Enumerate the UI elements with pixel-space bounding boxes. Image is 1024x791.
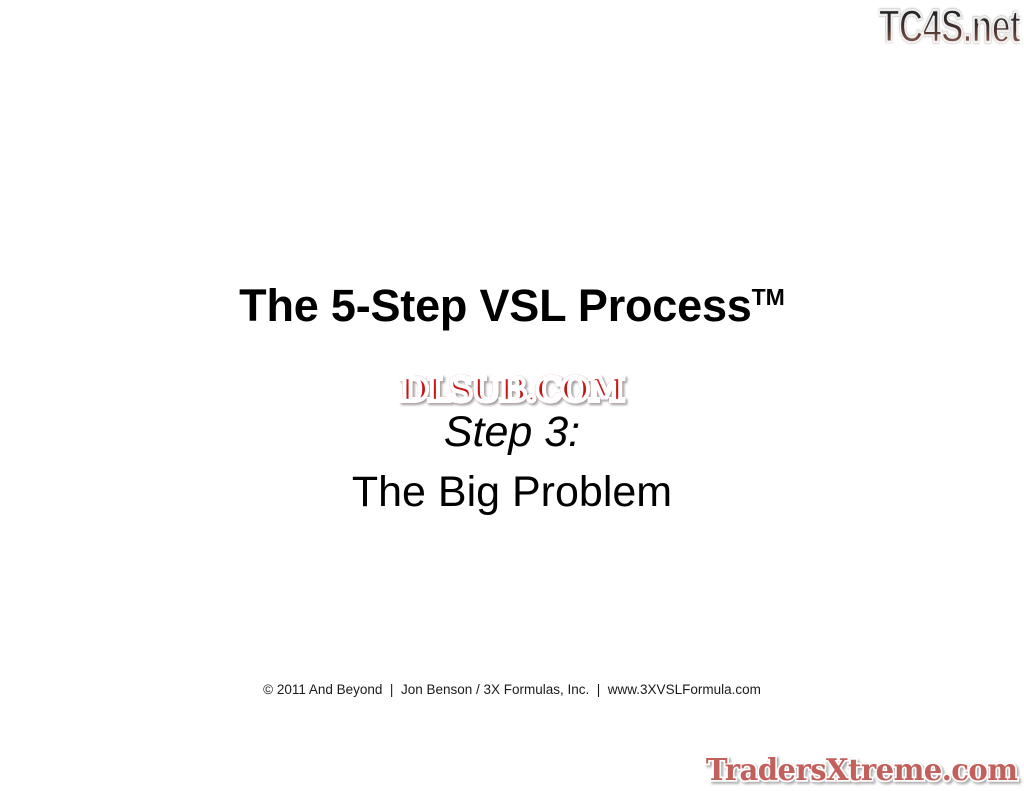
step-label: Step 3: [0, 406, 1024, 458]
page-title: The 5-Step VSL ProcessTM [0, 272, 1024, 331]
presentation-slide: TC4S.net The 5-Step VSL ProcessTM DLSUB.… [0, 0, 1024, 791]
page-title-text: The 5-Step VSL Process [239, 280, 751, 331]
step-title: The Big Problem [0, 466, 1024, 518]
trademark-symbol: TM [752, 284, 785, 310]
tradersxtreme-watermark-text: TradersXtreme.com [706, 753, 1018, 789]
tradersxtreme-watermark: TradersXtreme.com [701, 753, 1022, 789]
dlsub-watermark-text: DLSUB.COM [400, 372, 624, 409]
tc4s-watermark: TC4S.net [878, 0, 1020, 52]
dlsub-watermark: DLSUB.COM [0, 370, 1024, 410]
footer-credit: © 2011 And Beyond | Jon Benson / 3X Form… [0, 681, 1024, 699]
